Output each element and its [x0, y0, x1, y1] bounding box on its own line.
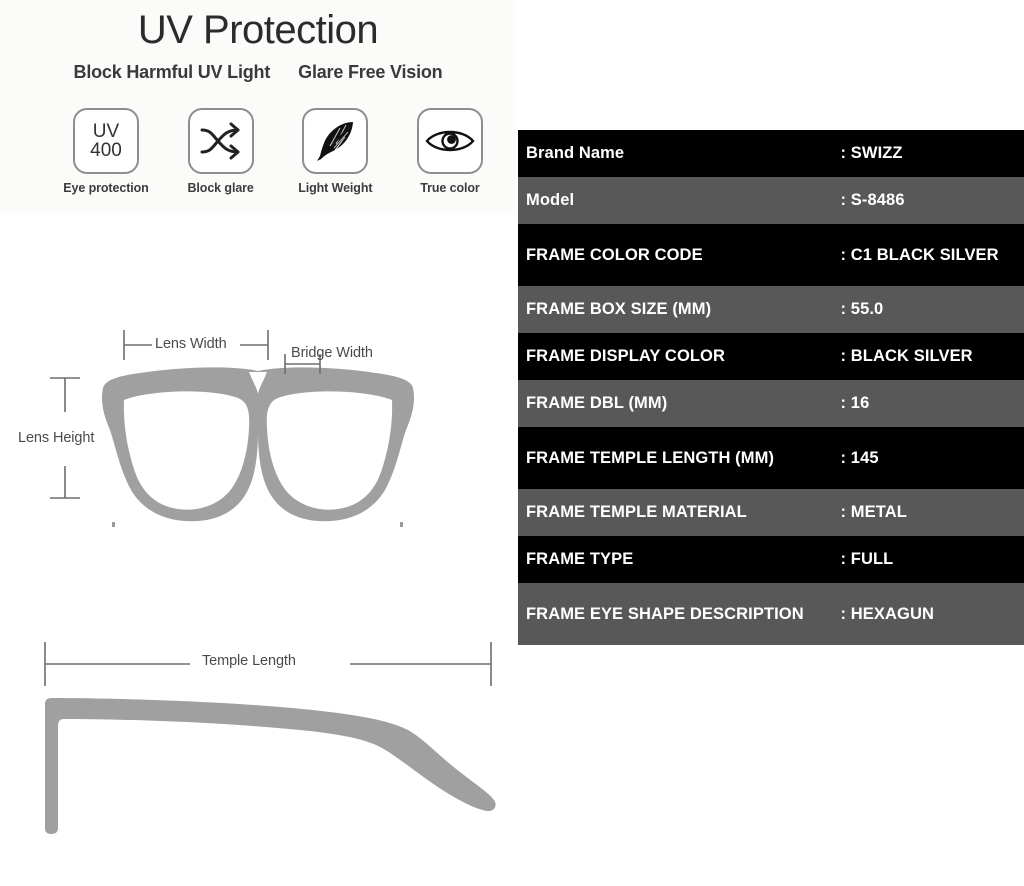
spec-row-key: Brand Name — [518, 130, 841, 177]
feature-true-color: True color — [402, 108, 498, 195]
spec-row-key: FRAME BOX SIZE (MM) — [518, 286, 841, 333]
uv-subtitle-block-uv: Block Harmful UV Light — [74, 62, 271, 83]
feature-caption: Eye protection — [58, 181, 154, 195]
uv-subtitle-row: Block Harmful UV Light Glare Free Vision — [0, 62, 516, 83]
frame-front-diagram: Lens Width Bridge Width Lens Height — [0, 320, 516, 570]
spec-row-key: FRAME DISPLAY COLOR — [518, 333, 841, 380]
spec-row: Brand Name: SWIZZ — [518, 130, 1024, 177]
spec-row-value: : 16 — [841, 380, 1024, 427]
spec-row-value: : S-8486 — [841, 177, 1024, 224]
temple-arm-silhouette — [45, 698, 496, 834]
spec-row: FRAME TYPE: FULL — [518, 536, 1024, 583]
feature-eye-protection: UV 400 Eye protection — [58, 108, 154, 195]
feature-block-glare: Block glare — [173, 108, 269, 195]
spec-row: FRAME EYE SHAPE DESCRIPTION: HEXAGUN — [518, 583, 1024, 645]
spec-row-value: : 55.0 — [841, 286, 1024, 333]
lens-height-label: Lens Height — [18, 430, 94, 446]
feature-light-weight: Light Weight — [287, 108, 383, 195]
spec-row-value: : FULL — [841, 536, 1024, 583]
temple-length-label: Temple Length — [202, 653, 296, 669]
spec-row-value: : SWIZZ — [841, 130, 1024, 177]
spec-row: FRAME DBL (MM): 16 — [518, 380, 1024, 427]
feature-caption: Block glare — [173, 181, 269, 195]
spec-row-key: FRAME TYPE — [518, 536, 841, 583]
uv400-line1: UV — [90, 122, 122, 141]
lens-width-label: Lens Width — [155, 336, 227, 352]
spec-table-body: Brand Name: SWIZZModel: S-8486FRAME COLO… — [518, 130, 1024, 645]
crossing-arrows-icon — [188, 108, 254, 174]
frame-temple-diagram: Temple Length — [0, 620, 516, 860]
spec-row-key: FRAME TEMPLE LENGTH (MM) — [518, 427, 841, 489]
spec-row-key: Model — [518, 177, 841, 224]
spec-row-value: : METAL — [841, 489, 1024, 536]
spec-row-key: FRAME TEMPLE MATERIAL — [518, 489, 841, 536]
spec-row: Model: S-8486 — [518, 177, 1024, 224]
product-info-panel: UV Protection Block Harmful UV Light Gla… — [0, 0, 516, 886]
feature-caption: True color — [402, 181, 498, 195]
feature-icon-row: UV 400 Eye protection — [58, 108, 498, 195]
spec-row-value: : C1 BLACK SILVER — [841, 224, 1024, 286]
feature-caption: Light Weight — [287, 181, 383, 195]
uv400-icon: UV 400 — [73, 108, 139, 174]
uv-protection-banner: UV Protection Block Harmful UV Light Gla… — [0, 0, 516, 215]
uv-subtitle-glare-free: Glare Free Vision — [298, 62, 442, 83]
spec-row-value: : 145 — [841, 427, 1024, 489]
spec-row-key: FRAME DBL (MM) — [518, 380, 841, 427]
feather-icon — [302, 108, 368, 174]
frame-front-silhouette — [102, 367, 414, 521]
eye-icon — [417, 108, 483, 174]
spec-row-value: : HEXAGUN — [841, 583, 1024, 645]
spec-row: FRAME DISPLAY COLOR: BLACK SILVER — [518, 333, 1024, 380]
spec-row-value: : BLACK SILVER — [841, 333, 1024, 380]
uv400-line2: 400 — [90, 141, 122, 160]
spec-row: FRAME TEMPLE LENGTH (MM): 145 — [518, 427, 1024, 489]
spec-row-key: FRAME EYE SHAPE DESCRIPTION — [518, 583, 841, 645]
spec-row: FRAME COLOR CODE: C1 BLACK SILVER — [518, 224, 1024, 286]
spec-row-key: FRAME COLOR CODE — [518, 224, 841, 286]
spec-row: FRAME TEMPLE MATERIAL: METAL — [518, 489, 1024, 536]
uv-protection-title: UV Protection — [0, 6, 516, 54]
frame-specification-table: Brand Name: SWIZZModel: S-8486FRAME COLO… — [518, 130, 1024, 645]
bridge-width-label: Bridge Width — [291, 345, 373, 361]
spec-row: FRAME BOX SIZE (MM): 55.0 — [518, 286, 1024, 333]
